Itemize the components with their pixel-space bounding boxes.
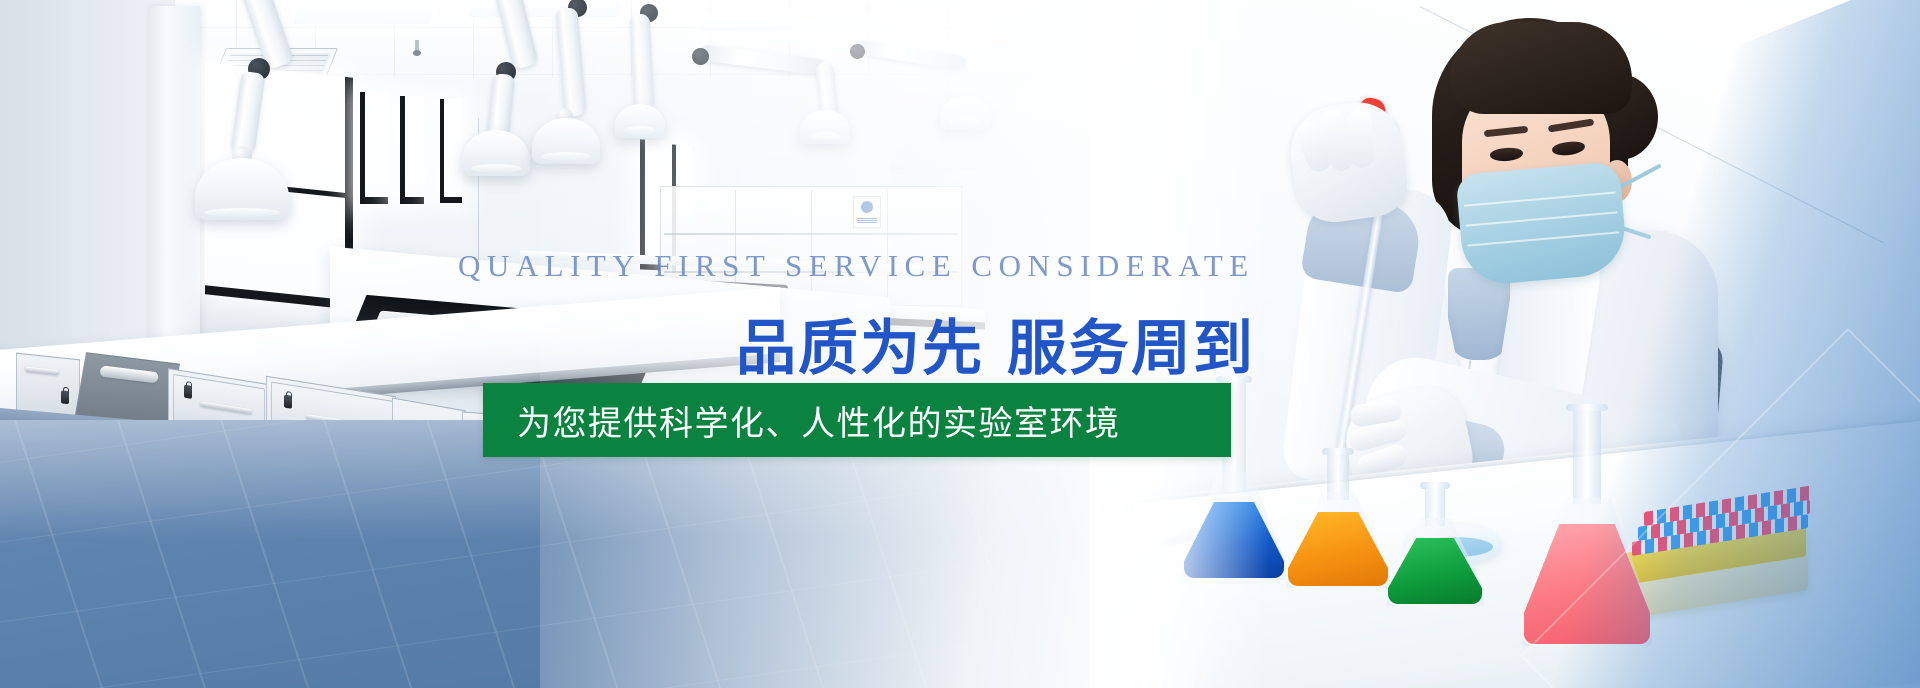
ceiling-light	[293, 2, 435, 24]
hero-banner: QUALITY FIRST SERVICE CONSIDERATE 品质为先 服…	[0, 0, 1920, 688]
blue-vinyl-floor	[0, 420, 1230, 688]
ceiling-light	[468, 0, 622, 17]
window	[400, 96, 424, 204]
lamp-hood	[940, 96, 990, 130]
lamp-hood	[615, 104, 665, 138]
headline-title: 品质为先 服务周到	[736, 300, 1255, 387]
fire-sprinkler-icon	[413, 40, 421, 58]
subtitle-text: 为您提供科学化、人性化的实验室环境	[517, 396, 1121, 445]
subtitle-green-banner: 为您提供科学化、人性化的实验室环境	[483, 383, 1231, 457]
window	[440, 99, 462, 203]
ceiling-light	[699, 16, 891, 31]
window	[360, 92, 388, 204]
shelf-logo-badge	[853, 196, 881, 228]
eyebrow-tagline: QUALITY FIRST SERVICE CONSIDERATE	[458, 248, 1255, 284]
lamp-hood	[800, 110, 850, 144]
